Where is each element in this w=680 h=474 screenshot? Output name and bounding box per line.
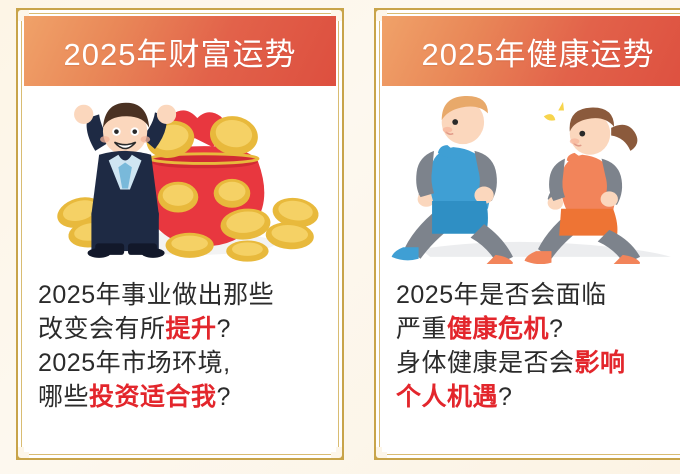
text-run: 2025年市场环境, [38, 349, 231, 377]
text-line: 2025年是否会面临 [396, 278, 680, 312]
text-run: 哪些 [38, 383, 89, 411]
card-body-text: 2025年是否会面临 严重健康危机? 身体健康是否会影响 个人机遇? [382, 264, 680, 452]
text-run: ? [498, 383, 512, 411]
text-run: ? [217, 383, 231, 411]
card-frame: 2025年财富运势 [16, 8, 344, 460]
text-line: 哪些投资适合我? [38, 380, 332, 414]
text-run: 2025年是否会面临 [396, 281, 607, 309]
text-line: 2025年事业做出那些 [38, 278, 332, 312]
text-run: ? [217, 315, 231, 343]
card-frame: 2025年健康运势 [374, 8, 680, 460]
text-run-highlight: 投资适合我 [89, 383, 217, 411]
poster-root: 2025年财富运势 [0, 0, 680, 474]
text-run: 身体健康是否会 [396, 349, 575, 377]
card-inner: 2025年财富运势 [24, 16, 336, 452]
card-body-text: 2025年事业做出那些 改变会有所提升? 2025年市场环境, 哪些投资适合我? [24, 264, 336, 452]
illustration-businessman-money-bag [24, 86, 336, 264]
text-run: 2025年事业做出那些 [38, 281, 274, 309]
text-line: 2025年市场环境, [38, 346, 332, 380]
card-title: 2025年健康运势 [422, 29, 655, 74]
text-line: 严重健康危机? [396, 312, 680, 346]
card-banner: 2025年健康运势 [382, 16, 680, 86]
card-health[interactable]: 2025年健康运势 [366, 0, 680, 474]
text-run: 严重 [396, 315, 447, 343]
card-wealth[interactable]: 2025年财富运势 [8, 0, 344, 474]
text-line: 个人机遇? [396, 380, 680, 414]
text-run-highlight: 影响 [575, 349, 626, 377]
illustration-joggers [382, 86, 680, 264]
card-inner: 2025年健康运势 [382, 16, 680, 452]
card-banner: 2025年财富运势 [24, 16, 336, 86]
text-line: 身体健康是否会影响 [396, 346, 680, 380]
text-run: ? [549, 315, 563, 343]
text-run-highlight: 健康危机 [447, 315, 549, 343]
text-run-highlight: 个人机遇 [396, 383, 498, 411]
text-run: 改变会有所 [38, 315, 166, 343]
text-line: 改变会有所提升? [38, 312, 332, 346]
text-run-highlight: 提升 [166, 315, 217, 343]
card-title: 2025年财富运势 [64, 29, 297, 74]
